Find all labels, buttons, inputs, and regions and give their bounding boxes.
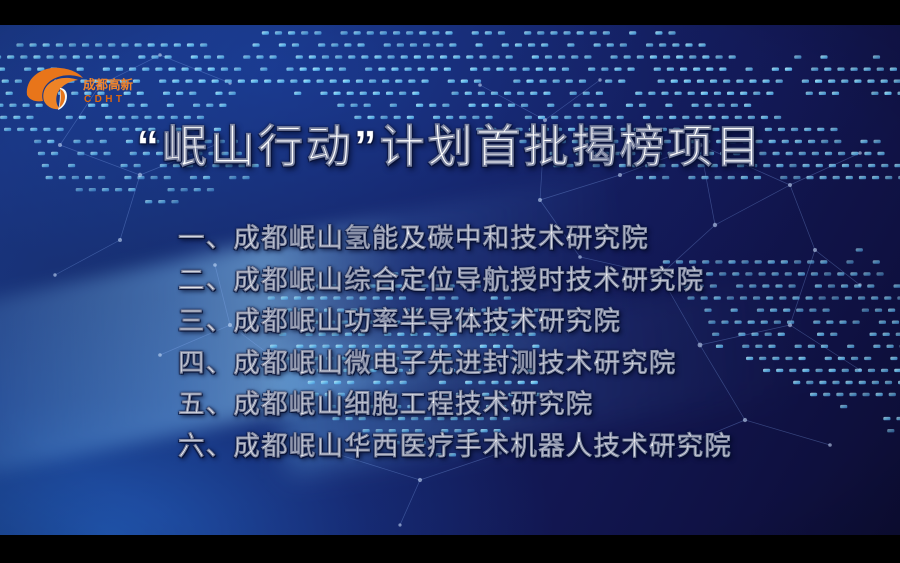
slide-stage: 成都高新 CDHT “岷山行动”计划首批揭榜项目 一、成都岷山氢能及碳中和技术研… <box>0 0 900 563</box>
cdht-logo: 成都高新 CDHT <box>20 58 140 116</box>
swoosh-icon <box>27 68 83 110</box>
list-item: 五、成都岷山细胞工程技术研究院 <box>178 391 732 418</box>
list-item: 一、成都岷山氢能及碳中和技术研究院 <box>178 225 732 252</box>
project-list: 一、成都岷山氢能及碳中和技术研究院 二、成都岷山综合定位导航授时技术研究院 三、… <box>178 225 732 459</box>
letterbox-top <box>0 0 900 25</box>
list-item: 二、成都岷山综合定位导航授时技术研究院 <box>178 267 732 294</box>
logo-en-text: CDHT <box>84 94 125 105</box>
list-item: 三、成都岷山功率半导体技术研究院 <box>178 308 732 335</box>
svg-text:CDHT: CDHT <box>84 94 125 105</box>
page-title: “岷山行动”计划首批揭榜项目 <box>0 120 900 173</box>
slide-frame: 成都高新 CDHT “岷山行动”计划首批揭榜项目 一、成都岷山氢能及碳中和技术研… <box>0 25 900 535</box>
list-item: 六、成都岷山华西医疗手术机器人技术研究院 <box>178 433 732 460</box>
logo-cn-text: 成都高新 <box>83 77 134 92</box>
list-item: 四、成都岷山微电子先进封测技术研究院 <box>178 350 732 377</box>
letterbox-bottom <box>0 535 900 563</box>
svg-text:成都高新: 成都高新 <box>83 77 134 92</box>
